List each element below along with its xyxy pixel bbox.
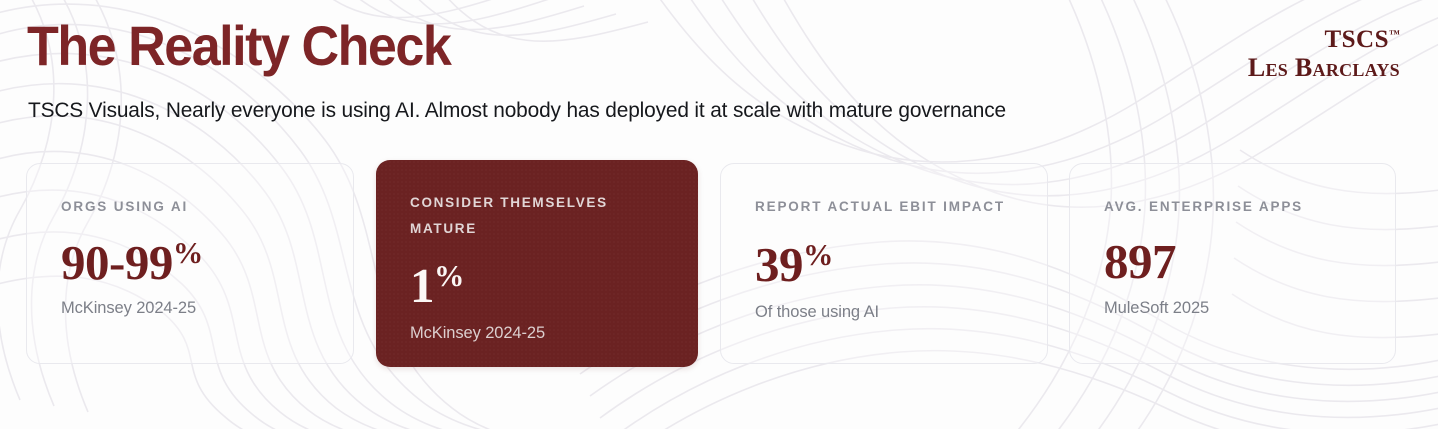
stat-card-label: Report Actual EBIT Impact	[755, 194, 1015, 220]
infographic-canvas: The Reality Check TSCS Visuals, Nearly e…	[0, 0, 1438, 429]
stat-card-value-suffix: %	[803, 238, 833, 272]
stat-card-value-number: 90-99	[61, 235, 173, 290]
stat-card-value: 90-99%	[61, 238, 321, 287]
stat-card-label: Consider Themselves Mature	[410, 190, 666, 241]
page-subtitle: TSCS Visuals, Nearly everyone is using A…	[28, 98, 1006, 124]
stat-card-value: 1%	[410, 261, 666, 310]
stat-card-value-suffix: %	[173, 236, 203, 270]
stat-card-value-suffix: %	[434, 259, 464, 293]
stat-card-value-number: 1	[410, 258, 434, 313]
page-title: The Reality Check	[27, 18, 450, 74]
stat-card-avg-enterprise-apps: Avg. Enterprise Apps 897 MuleSoft 2025	[1069, 163, 1396, 364]
stat-card-value: 897	[1104, 237, 1363, 286]
stat-card-source: McKinsey 2024-25	[61, 299, 321, 318]
stat-card-orgs-using-ai: Orgs Using AI 90-99% McKinsey 2024-25	[26, 163, 354, 364]
stat-card-label: Avg. Enterprise Apps	[1104, 194, 1363, 220]
stat-card-source: MuleSoft 2025	[1104, 299, 1363, 318]
stat-card-label: Orgs Using AI	[61, 194, 321, 220]
stat-card-source: McKinsey 2024-25	[410, 324, 666, 343]
stat-card-value-number: 897	[1104, 234, 1176, 289]
stat-card-source: Of those using AI	[755, 303, 1015, 322]
stat-card-value: 39%	[755, 240, 1015, 289]
stat-card-consider-themselves-mature: Consider Themselves Mature 1% McKinsey 2…	[376, 160, 698, 367]
stat-card-report-actual-ebit-impact: Report Actual EBIT Impact 39% Of those u…	[720, 163, 1048, 364]
stat-card-value-number: 39	[755, 237, 803, 292]
